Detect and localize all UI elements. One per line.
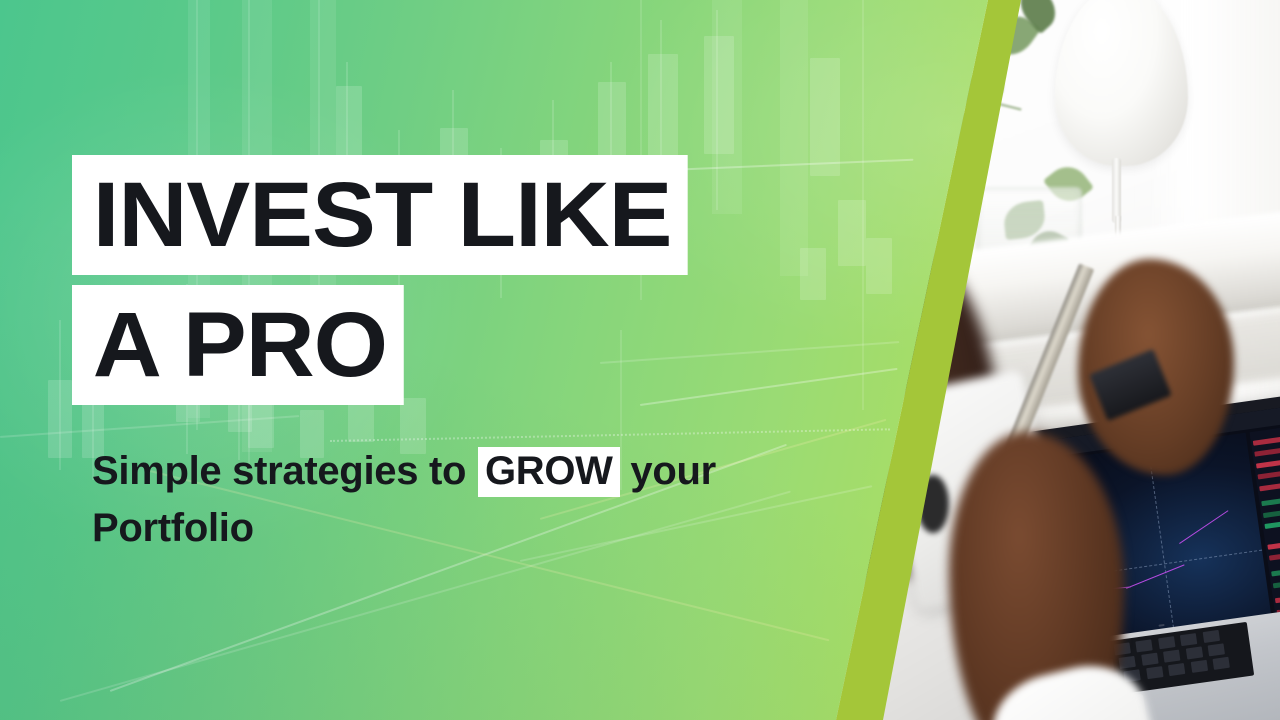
lamp-neck bbox=[1112, 158, 1121, 223]
subtitle-before: Simple strategies to bbox=[92, 449, 477, 493]
lamp-shade bbox=[1055, 0, 1188, 166]
headline-line-2: A PRO bbox=[72, 285, 404, 405]
promo-banner: INVEST LIKE A PRO Simple strategies to G… bbox=[0, 0, 1280, 720]
subtitle-highlight: GROW bbox=[478, 447, 620, 497]
headline: INVEST LIKE A PRO bbox=[72, 155, 664, 405]
headline-line-1: INVEST LIKE bbox=[72, 155, 688, 275]
subtitle: Simple strategies to GROW your Portfolio bbox=[92, 443, 792, 557]
